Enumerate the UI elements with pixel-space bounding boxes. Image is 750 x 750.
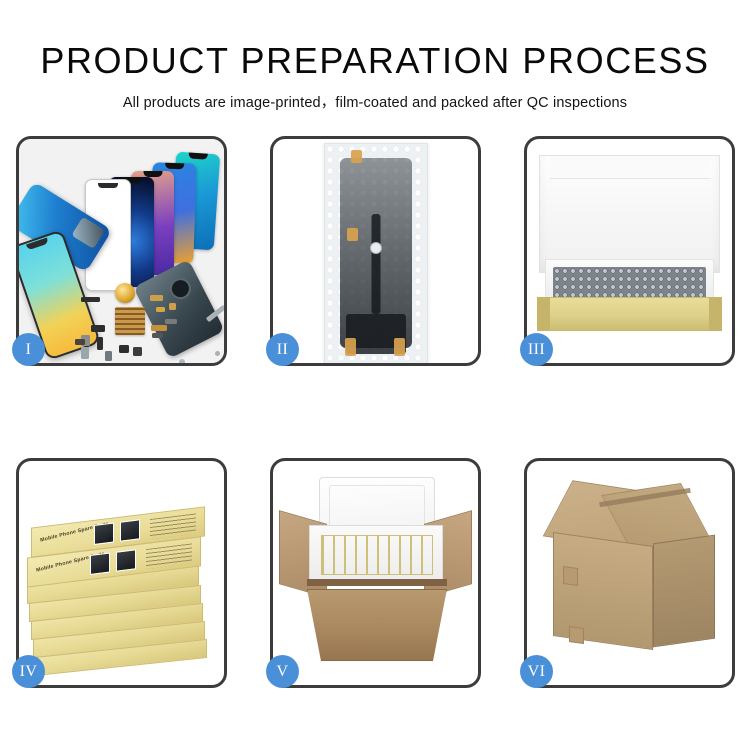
screw-part <box>179 359 185 363</box>
product-preparation-process-page: PRODUCT PREPARATION PROCESS All products… <box>0 0 750 750</box>
component-part <box>152 333 163 338</box>
carton-tape <box>563 566 578 586</box>
process-step-panel-2: II <box>270 136 481 366</box>
box-stack: Mobile Phone Spare Parts Mobile Phone Sp… <box>19 461 224 685</box>
box-screen-print <box>116 549 136 571</box>
process-step-panel-4: Mobile Phone Spare Parts Mobile Phone Sp… <box>16 458 227 688</box>
chip-array-icon <box>115 307 145 335</box>
component-part <box>165 319 177 324</box>
component-part <box>151 325 167 331</box>
copper-coil-icon <box>115 283 135 303</box>
component-part <box>91 325 105 332</box>
component-part <box>156 307 165 312</box>
step-5-image <box>273 461 478 685</box>
box-screen-print <box>90 552 110 574</box>
component-part <box>105 351 112 361</box>
step-1-image <box>19 139 224 363</box>
process-steps-grid: I II <box>16 136 734 688</box>
page-subtitle: All products are image-printed，film-coat… <box>0 91 750 112</box>
component-part <box>169 303 176 310</box>
tape-piece <box>394 338 405 356</box>
step-2-image <box>273 139 478 363</box>
step-numeral-badge: I <box>12 333 45 366</box>
carton-body <box>307 589 447 661</box>
component-part <box>97 337 103 350</box>
step-6-image <box>527 461 732 685</box>
step-numeral-badge: VI <box>520 655 553 688</box>
process-step-panel-3: III <box>524 136 735 366</box>
yellow-box-base <box>537 297 722 331</box>
flex-cable <box>371 214 380 314</box>
carton-front-face <box>553 532 653 650</box>
step-numeral-badge: II <box>266 333 299 366</box>
process-step-panel-6: VI <box>524 458 735 688</box>
bubble-wrap-bag-icon <box>324 143 428 363</box>
phone-parts-illustration <box>19 139 224 363</box>
carton-side-face <box>653 535 715 648</box>
carton-rim <box>307 579 447 586</box>
camera-hole <box>370 242 382 254</box>
component-part <box>81 347 89 359</box>
step-numeral-badge: V <box>266 655 299 688</box>
component-part <box>133 347 142 356</box>
process-step-panel-5: V <box>270 458 481 688</box>
step-numeral-badge: III <box>520 333 553 366</box>
tape-piece <box>347 228 358 241</box>
step-numeral-badge: IV <box>12 655 45 688</box>
component-part <box>150 295 163 301</box>
box-lid <box>539 155 720 273</box>
process-step-panel-1: I <box>16 136 227 366</box>
tape-piece <box>351 150 362 163</box>
box-spec-lines <box>150 513 196 539</box>
tape-piece <box>345 338 356 356</box>
carton-tape <box>569 626 584 644</box>
component-part <box>81 297 100 302</box>
step-4-image: Mobile Phone Spare Parts Mobile Phone Sp… <box>19 461 224 685</box>
component-part <box>119 345 129 353</box>
box-screen-print <box>120 519 140 541</box>
page-header: PRODUCT PREPARATION PROCESS All products… <box>0 0 750 112</box>
box-flap-left <box>537 297 550 331</box>
box-flap-right <box>709 297 722 331</box>
component-part <box>75 339 85 345</box>
box-screen-print <box>94 522 114 544</box>
page-title: PRODUCT PREPARATION PROCESS <box>0 42 750 80</box>
step-3-image <box>527 139 732 363</box>
box-spec-lines <box>146 543 192 569</box>
yellow-boxes-inside <box>321 535 433 575</box>
screw-part <box>215 351 220 356</box>
